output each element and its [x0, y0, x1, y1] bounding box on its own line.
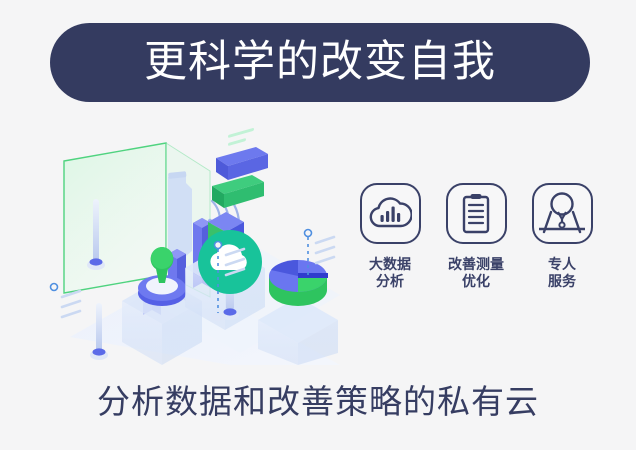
cloud-bar-chart-icon [368, 194, 412, 234]
clipboard-icon [456, 192, 496, 236]
promo-banner-page: 更科学的改变自我 [0, 0, 636, 450]
pie-chart-3d [269, 260, 328, 306]
isometric-illustration [40, 125, 350, 365]
dotted-connector-bottom [51, 284, 58, 291]
dash-marks-bottom [62, 291, 80, 317]
page-title: 更科学的改变自我 [144, 41, 496, 84]
feature-item-big-data[interactable]: 大数据 分析 [352, 183, 428, 291]
feature-label-big-data: 大数据 分析 [369, 257, 411, 291]
header-pill: 更科学的改变自我 [50, 23, 590, 102]
feature-label-measurement: 改善测量 优化 [448, 257, 504, 291]
dash-marks-right [316, 237, 334, 263]
support-agent-icon [536, 188, 588, 240]
feature-item-service[interactable]: 专人 服务 [524, 183, 600, 291]
footer-tagline: 分析数据和改善策略的私有云 [0, 382, 636, 422]
feature-list: 大数据 分析 改善测量 优化 [352, 183, 600, 291]
clipboard-icon-frame [446, 183, 507, 244]
feature-item-measurement[interactable]: 改善测量 优化 [438, 183, 514, 291]
support-agent-icon-frame [532, 183, 593, 244]
feature-label-service: 专人 服务 [548, 257, 576, 291]
cloud-bar-chart-icon-frame [360, 183, 421, 244]
